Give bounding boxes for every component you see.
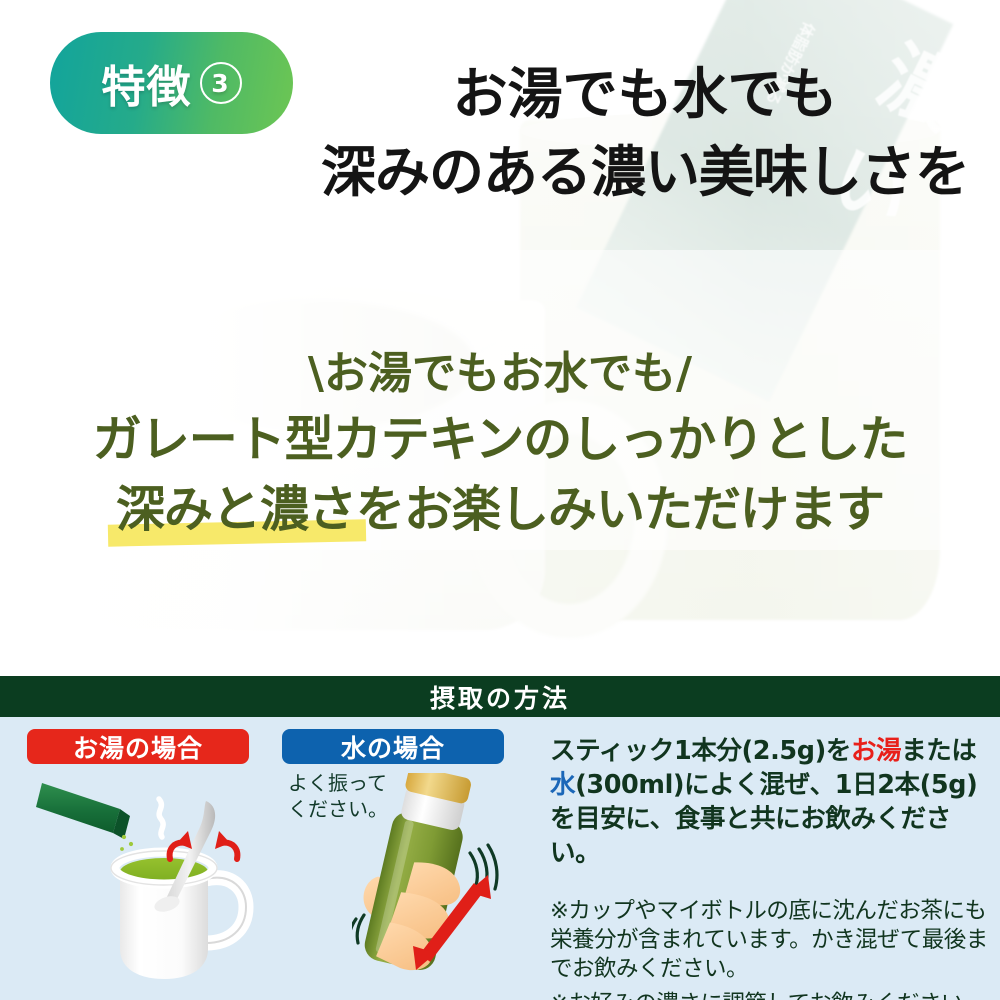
stick-packet-icon xyxy=(36,783,130,839)
instruction-hot-water: お湯 xyxy=(851,736,901,766)
headline: お湯でも水でも 深みのある濃い美味しさを xyxy=(300,55,990,211)
howto-text-column: スティック1本分(2.5g)をお湯または水(300ml)によく混ぜ、1日2本(5… xyxy=(550,735,998,1000)
note-1: ※カップやマイボトルの底に沈んだお茶にも栄養分が含まれています。かき混ぜて最後ま… xyxy=(550,898,988,983)
label-cold-water-text: 水の場合 xyxy=(341,729,445,765)
notes-block: ※カップやマイボトルの底に沈んだお茶にも栄養分が含まれています。かき混ぜて最後ま… xyxy=(550,897,998,1000)
highlight-marker: 深みと濃さ xyxy=(116,478,356,542)
instruction-seg-3: (300ml)によく混ぜ、1日2本(5g)を目安に、食事と共にお飲みください。 xyxy=(550,770,977,868)
advertisement-page: 体脂肪が減る 濃い 特徴 3 お湯でも水でも 深みのある濃い美味しさを \お湯で… xyxy=(0,0,1000,1000)
howto-section: お湯の場合 水の場合 よく振って ください。 xyxy=(0,717,1000,1000)
instruction-seg-2: または xyxy=(901,736,976,766)
feature-badge-number: 3 xyxy=(200,62,242,104)
note-2: ※お好みの濃さに調節してお飲みください。 xyxy=(550,990,998,1000)
center-message-line-3: 深みと濃さをお楽しみいただけます xyxy=(0,478,1000,542)
feature-badge-label: 特徴 3 xyxy=(102,51,242,115)
instruction-seg-1: スティック1本分(2.5g)を xyxy=(550,736,851,766)
center-message-line-1: \お湯でもお水でも/ xyxy=(0,345,1000,402)
highlight-marker-text: 深みと濃さ xyxy=(116,481,356,538)
main-instruction: スティック1本分(2.5g)をお湯または水(300ml)によく混ぜ、1日2本(5… xyxy=(550,735,998,871)
section-header-bar: 摂取の方法 xyxy=(0,676,1000,717)
feature-badge: 特徴 3 xyxy=(50,32,293,134)
center-message: \お湯でもお水でも/ ガレート型カテキンのしっかりとした 深みと濃さをお楽しみい… xyxy=(0,345,1000,542)
label-hot-water: お湯の場合 xyxy=(27,729,249,764)
headline-line-2: 深みのある濃い美味しさを xyxy=(300,133,990,211)
hot-water-illustration xyxy=(20,771,282,996)
section-header-title: 摂取の方法 xyxy=(430,679,570,715)
feature-badge-text: 特徴 xyxy=(102,51,192,115)
hero-section: 体脂肪が減る 濃い 特徴 3 お湯でも水でも 深みのある濃い美味しさを \お湯で… xyxy=(0,0,1000,676)
center-message-line-3-rest: をお楽しみいただけます xyxy=(356,481,884,538)
headline-line-1: お湯でも水でも xyxy=(300,55,990,133)
label-hot-water-text: お湯の場合 xyxy=(73,729,203,765)
instruction-cold-water: 水 xyxy=(550,770,575,800)
steam-icon xyxy=(159,799,163,837)
center-message-line-2: ガレート型カテキンのしっかりとした xyxy=(0,408,1000,472)
bottle-shake-illustration xyxy=(352,773,530,995)
label-cold-water: 水の場合 xyxy=(282,729,504,764)
